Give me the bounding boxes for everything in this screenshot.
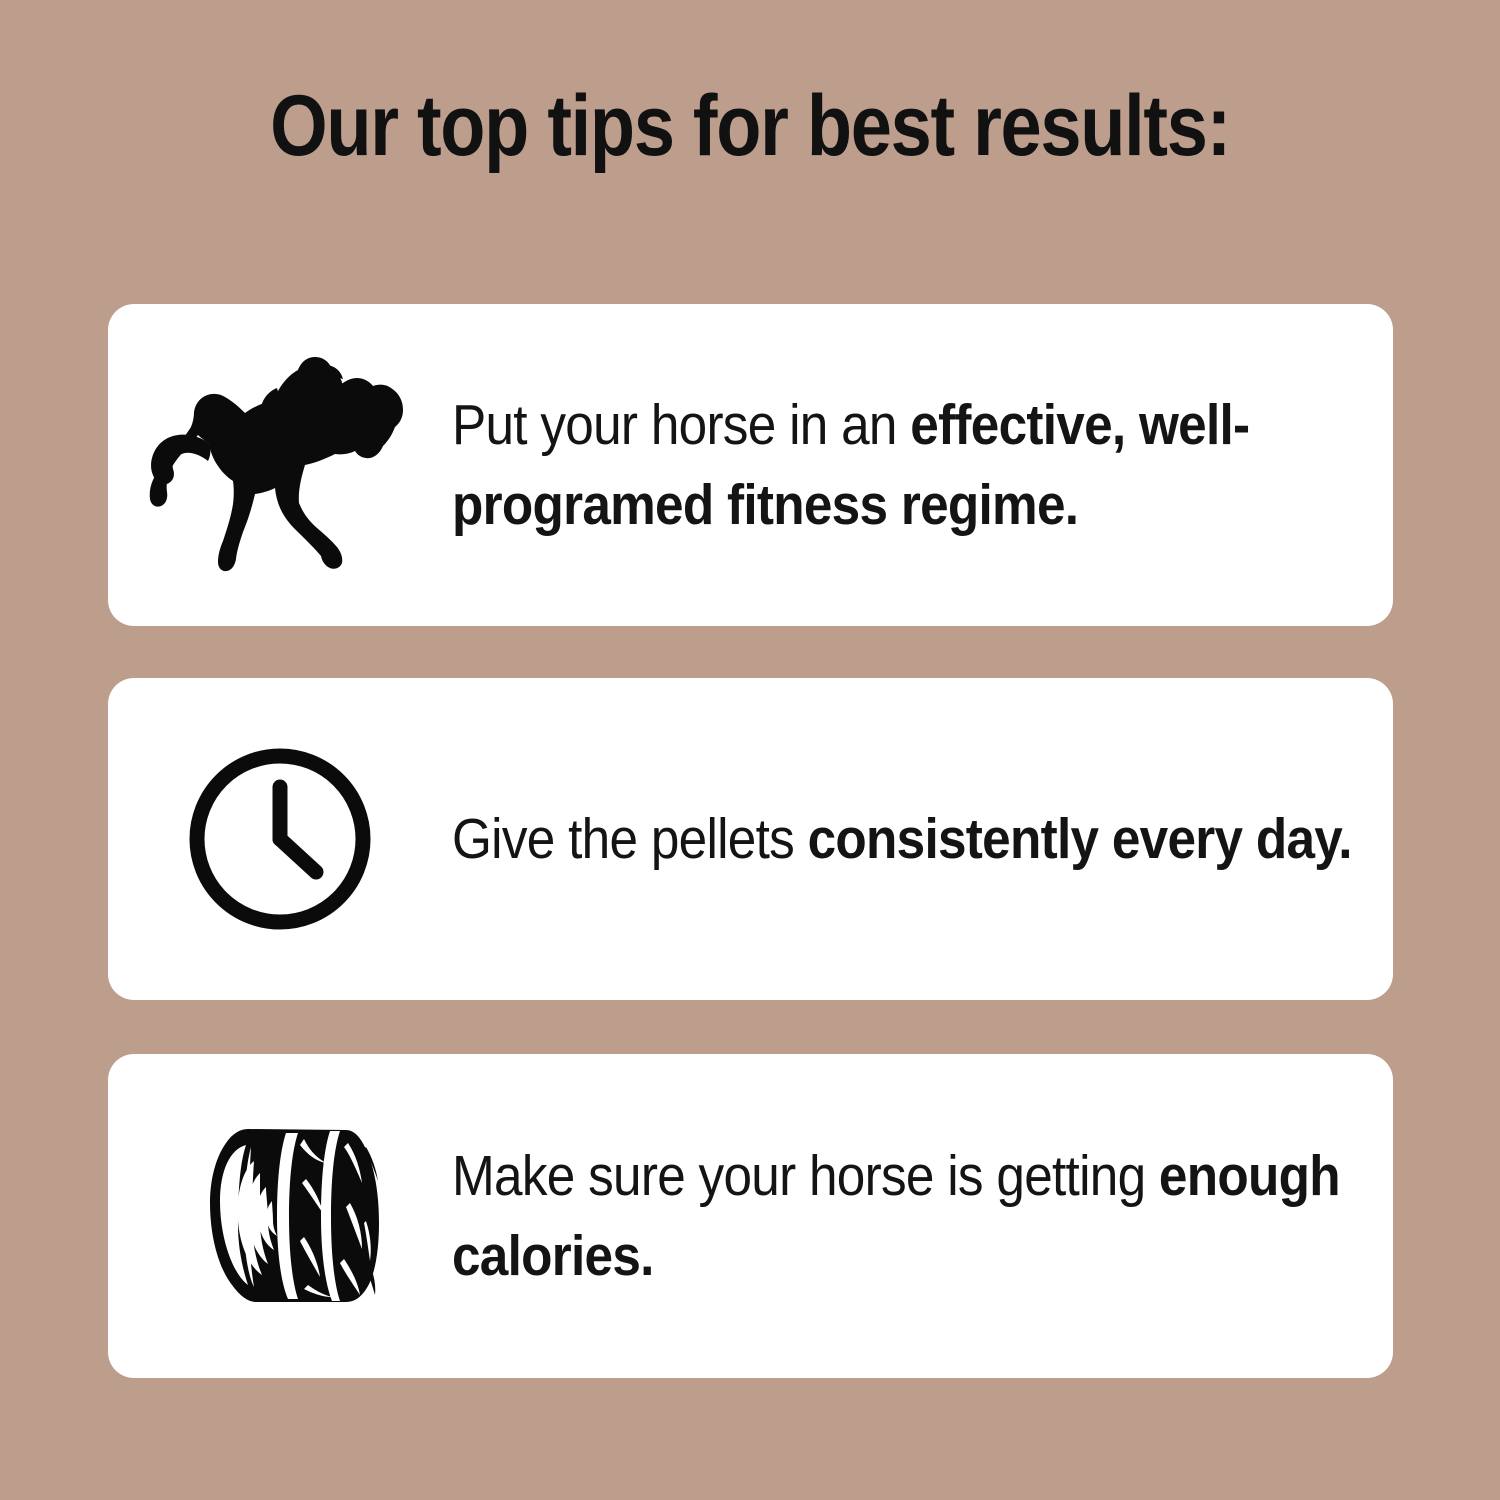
tip-icon-slot-3 (108, 1054, 452, 1378)
tip-text-slot-2: Give the pellets consistently every day. (452, 799, 1393, 879)
page-title: Our top tips for best results: (105, 78, 1395, 174)
tip-card-1: Put your horse in an effective, well-pro… (108, 304, 1393, 626)
tip-text-1-normal: Put your horse in an (452, 393, 910, 457)
tip-text-2: Give the pellets consistently every day. (452, 799, 1352, 879)
tip-text-2-normal: Give the pellets (452, 807, 808, 871)
hay-bale-icon (180, 1125, 380, 1307)
tip-text-slot-1: Put your horse in an effective, well-pro… (452, 385, 1393, 545)
tip-text-1: Put your horse in an effective, well-pro… (452, 385, 1352, 545)
tip-text-2-bold: consistently every day. (808, 807, 1352, 871)
tip-card-3: Make sure your horse is getting enough c… (108, 1054, 1393, 1378)
horse-and-rider-icon (149, 355, 411, 575)
tip-icon-slot-1 (108, 304, 452, 626)
tip-icon-slot-2 (108, 678, 452, 1000)
tip-text-3-normal: Make sure your horse is getting (452, 1144, 1159, 1208)
infographic-page: Our top tips for best results: (0, 0, 1500, 1500)
clock-icon (182, 741, 378, 937)
tip-text-slot-3: Make sure your horse is getting enough c… (452, 1136, 1393, 1296)
tip-text-3: Make sure your horse is getting enough c… (452, 1136, 1352, 1296)
tip-card-2: Give the pellets consistently every day. (108, 678, 1393, 1000)
